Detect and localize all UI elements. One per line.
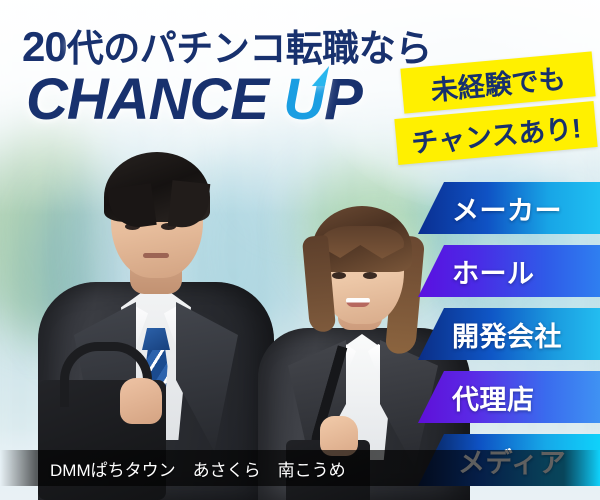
category-bar-developer[interactable]: 開発会社 xyxy=(418,308,600,360)
category-bar-agency[interactable]: 代理店 xyxy=(418,371,600,423)
caption-bar: DMMぱちタウン あさくら 南こうめ xyxy=(0,450,600,486)
category-label-maker: メーカー xyxy=(452,189,562,228)
category-label-agency: 代理店 xyxy=(452,378,535,417)
man-hand xyxy=(120,378,162,424)
man-mouth xyxy=(143,253,169,258)
category-label-hall: ホール xyxy=(452,252,535,291)
caption-text: DMMぱちタウン あさくら 南こうめ xyxy=(50,456,346,481)
man-hair xyxy=(104,152,210,222)
woman-mouth xyxy=(346,298,370,307)
headline-text: 20代のパチンコ転職なら xyxy=(22,18,432,72)
headline-number: 20 xyxy=(22,23,67,70)
category-bar-hall[interactable]: ホール xyxy=(418,245,600,297)
advertisement-banner[interactable]: 20代のパチンコ転職なら CHANCE UP 未経験でも チャンスあり! メーカ… xyxy=(0,0,600,500)
woman-eye-right xyxy=(363,272,377,279)
headline-rest: 代のパチンコ転職なら xyxy=(67,28,432,69)
category-label-developer: 開発会社 xyxy=(452,315,562,354)
category-bar-maker[interactable]: メーカー xyxy=(418,182,600,234)
logo-chance-up: CHANCE UP xyxy=(26,66,362,133)
badge-line-1-text: 未経験でも xyxy=(429,57,567,108)
photo-businessman xyxy=(38,152,274,500)
logo-chance-word: CHANCE xyxy=(26,67,283,132)
woman-eye-left xyxy=(332,272,346,279)
logo-p-letter: P xyxy=(324,67,362,132)
